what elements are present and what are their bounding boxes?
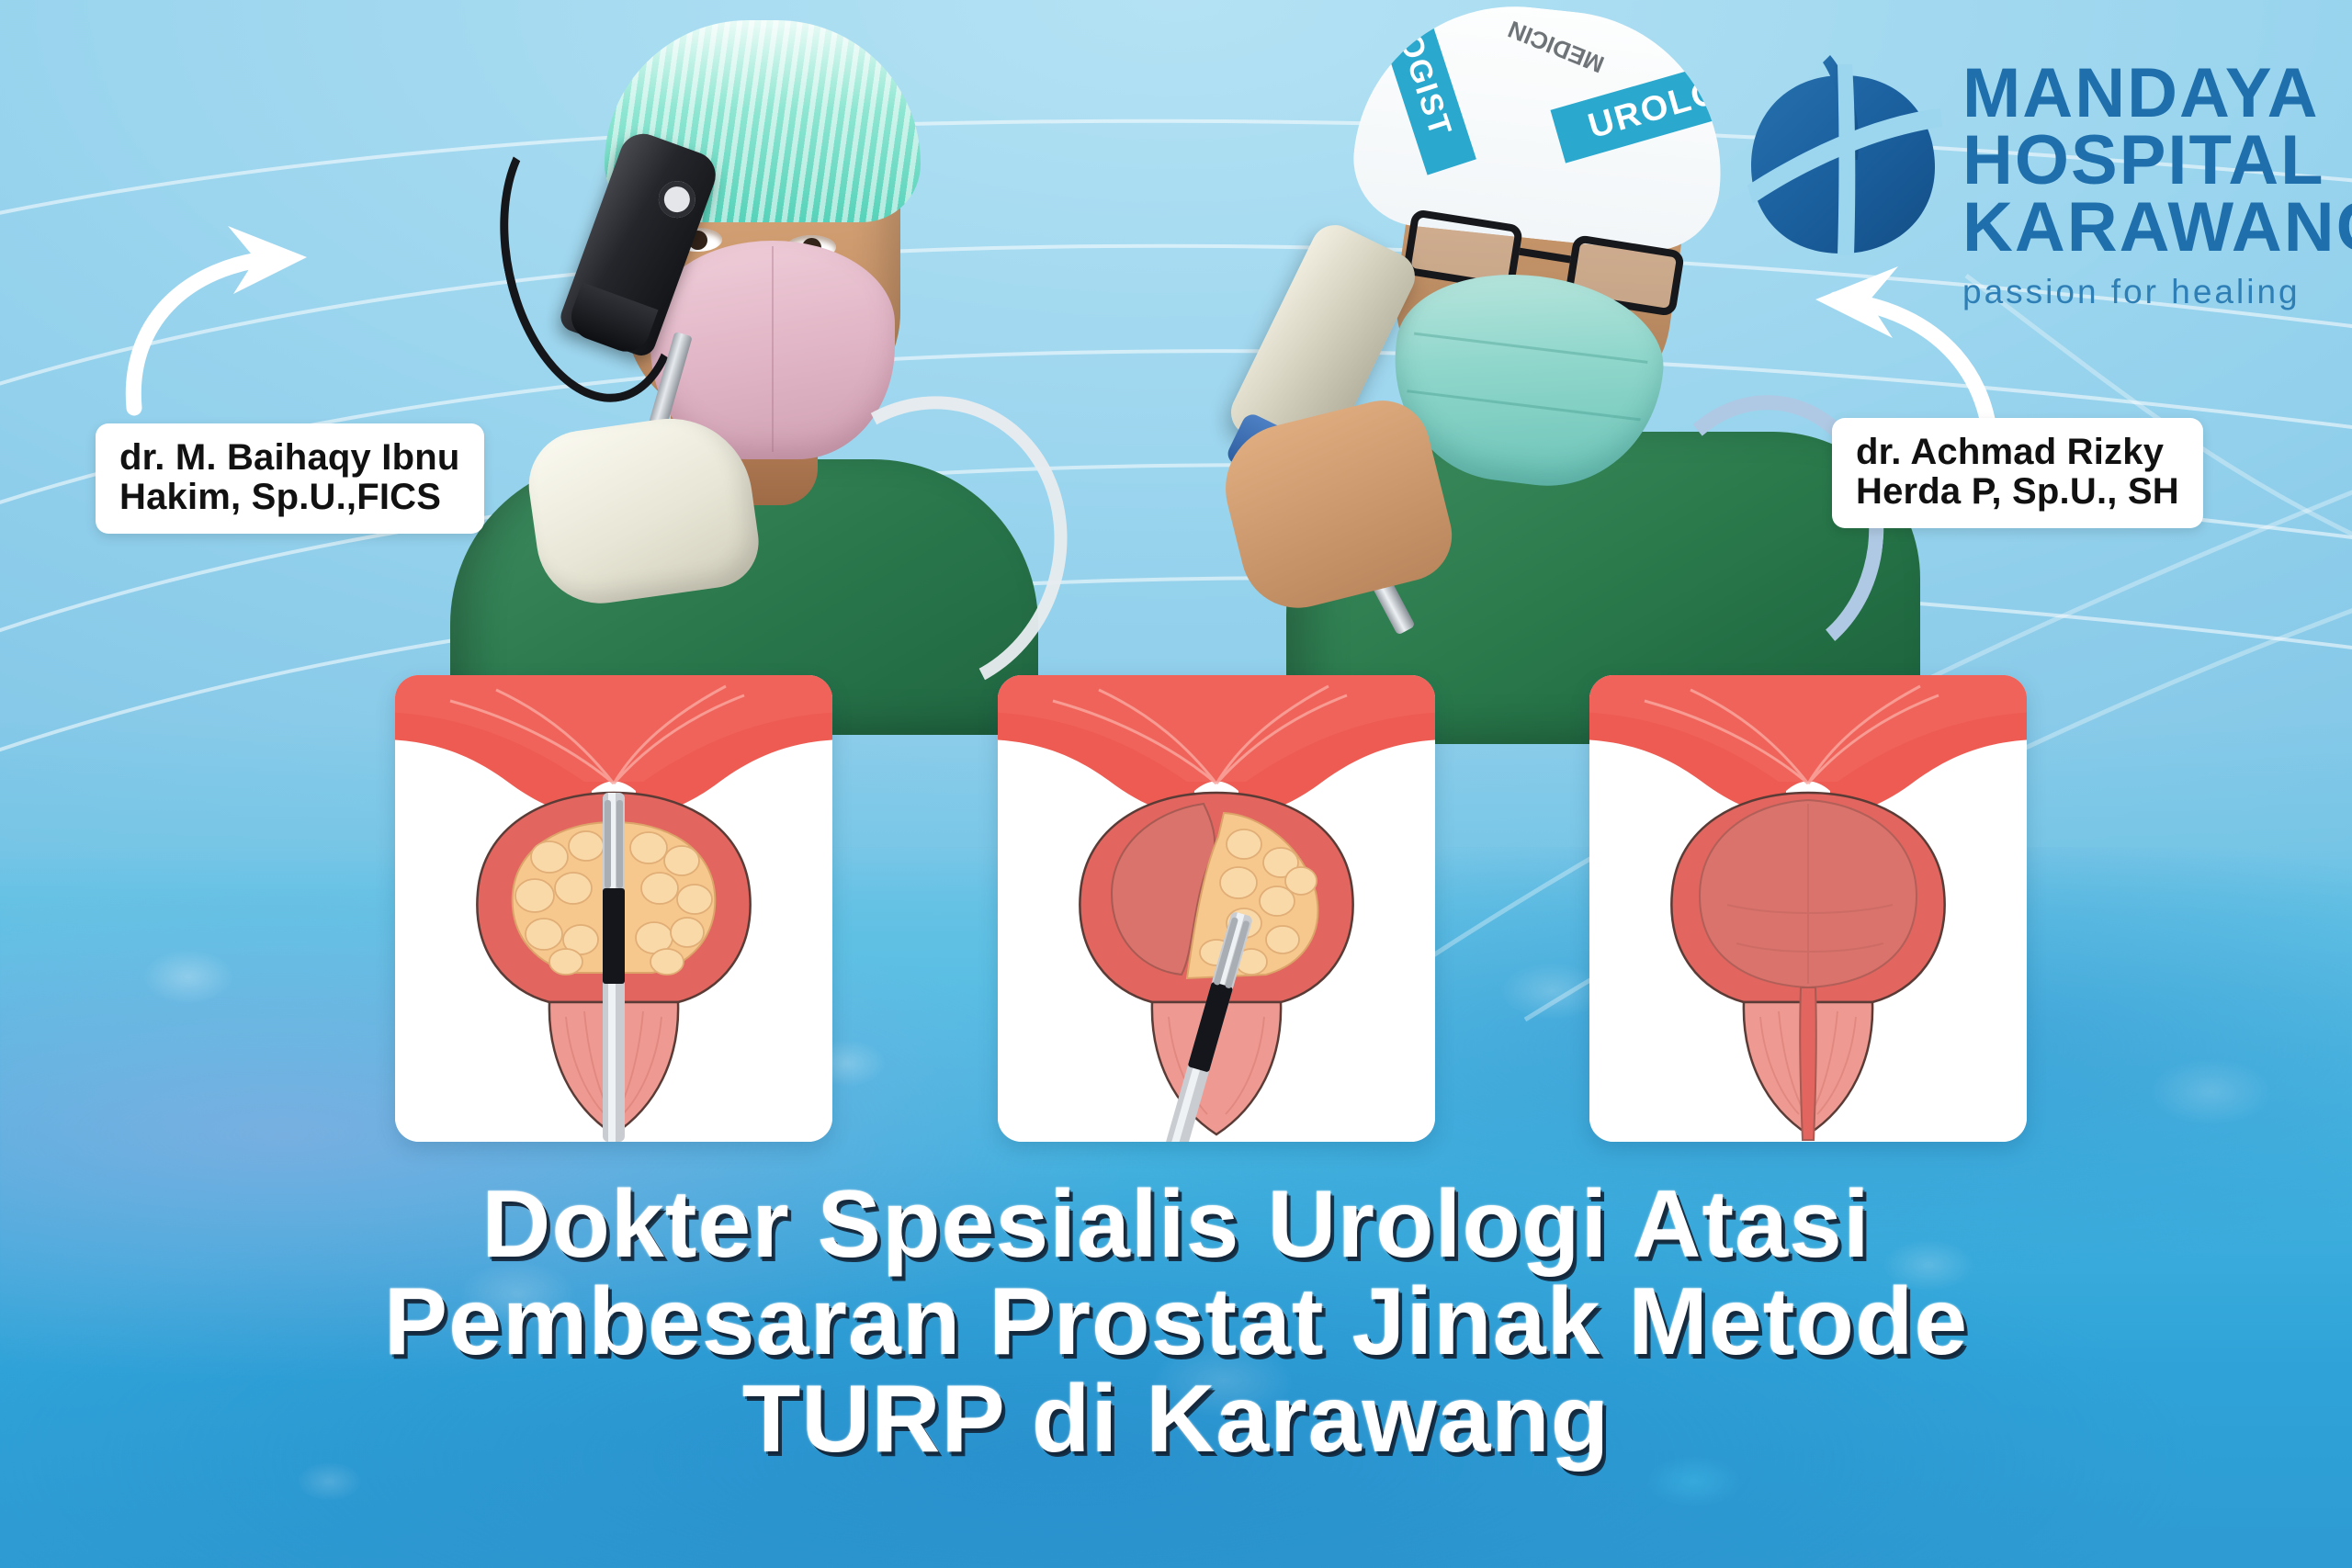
diagram-card-step-2 — [998, 675, 1435, 1142]
mandaya-leaf-cross-logo-icon — [1746, 48, 1942, 257]
hospital-logo: MANDAYA HOSPITAL KARAWANG passion for he… — [1746, 40, 2315, 270]
logo-line-1: MANDAYA — [1962, 61, 2352, 128]
prostate-enlarged-diagram — [395, 675, 832, 1142]
glasses-bridge — [1519, 248, 1571, 264]
headline: Dokter Spesialis Urologi Atasi Pembesara… — [0, 1176, 2352, 1468]
prostate-partial-resection-diagram — [998, 675, 1435, 1142]
diagram-card-step-1 — [395, 675, 832, 1142]
headline-line-2: Pembesaran Prostat Jinak Metode — [0, 1273, 2352, 1371]
doctor-name-label-right: dr. Achmad Rizky Herda P, Sp.U., SH — [1832, 418, 2203, 528]
diagram-card-step-3 — [1589, 675, 2027, 1142]
logo-wordmark: MANDAYA HOSPITAL KARAWANG passion for he… — [1962, 61, 2352, 311]
cap-text-medicine: MEDICIN — [1504, 15, 1608, 79]
logo-line-2: HOSPITAL — [1962, 128, 2352, 195]
doctor-name-label-left: dr. M. Baihaqy Ibnu Hakim, Sp.U.,FICS — [96, 423, 484, 534]
logo-tagline: passion for healing — [1962, 273, 2352, 311]
headline-line-3: TURP di Karawang — [0, 1371, 2352, 1468]
surgical-cap-right: LOGIST UROLOG MEDICIN — [1347, 0, 1736, 257]
poster-canvas: LOGIST UROLOG MEDICIN dr. M. Baihaqy Ibn… — [0, 0, 2352, 1568]
logo-line-3: KARAWANG — [1962, 195, 2352, 262]
prostate-resected-open-channel-diagram — [1589, 675, 2027, 1142]
cap-band-urologist-tail: LOGIST — [1368, 0, 1476, 175]
doctor-left-photo — [395, 0, 1093, 698]
headline-line-1: Dokter Spesialis Urologi Atasi — [0, 1176, 2352, 1273]
